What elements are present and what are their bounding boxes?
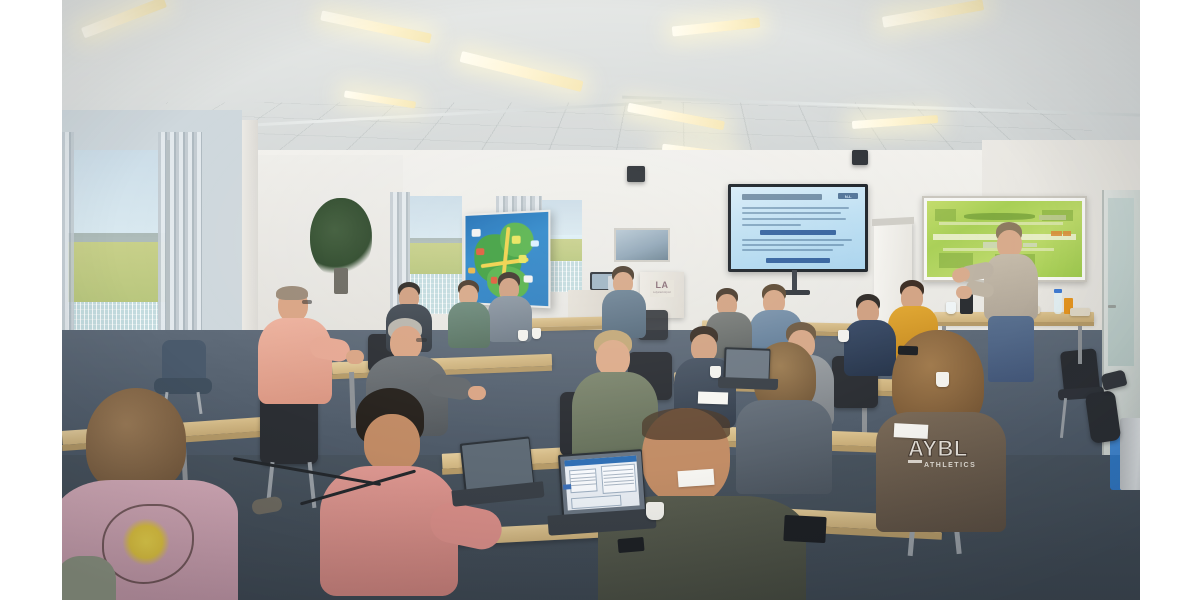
waste-bin[interactable] (1120, 418, 1140, 490)
slide: N-L (731, 187, 865, 269)
laptop-screen (461, 438, 532, 490)
slide-text-line (742, 249, 833, 251)
lounge-chair-seat (154, 378, 212, 394)
slide-text-line (742, 244, 844, 246)
door-glass-panel (1108, 198, 1134, 366)
laptop-foreground[interactable] (558, 449, 646, 517)
hand (468, 386, 486, 400)
hair (86, 388, 186, 492)
top (258, 318, 332, 404)
map-apron (1039, 215, 1067, 220)
lectern-logo-text: LA (650, 280, 674, 291)
paper-sheet[interactable] (698, 391, 728, 404)
map-building (1023, 243, 1037, 248)
map-marker (1051, 231, 1062, 236)
slide-text-line (742, 212, 841, 214)
sky (68, 150, 168, 237)
spreadsheet-selection (563, 484, 571, 489)
presenter-trousers (988, 316, 1034, 382)
poster-icon (469, 268, 476, 274)
drinking-glass[interactable] (710, 366, 721, 378)
lectern-logo: LA Lelystad Airport (650, 280, 674, 297)
drinking-glass[interactable] (532, 328, 541, 339)
paper-sheet[interactable] (894, 423, 929, 439)
display-stand (792, 270, 797, 292)
poster-icon (518, 255, 527, 262)
chair-cushion (62, 556, 116, 600)
hair (642, 408, 730, 440)
letterboxed-photo-frame: N-L (0, 0, 1200, 600)
slide-text-line (742, 239, 852, 241)
hoodie-brand-text: AYBL (908, 438, 968, 460)
bottle-cap (1054, 289, 1062, 293)
laptop-keyboard[interactable] (718, 377, 778, 390)
map-area (964, 213, 1035, 220)
map-parcel (935, 209, 957, 221)
hoodie-brand-rule (908, 460, 922, 463)
head (596, 340, 630, 376)
presenter-hand-right (956, 286, 972, 299)
door-handle[interactable] (1108, 305, 1116, 308)
glasses (416, 338, 427, 342)
ceiling-speaker (852, 150, 868, 165)
snack-plate (1070, 308, 1090, 316)
top (844, 320, 896, 376)
head (390, 326, 422, 360)
slide-highlight-band (760, 230, 835, 235)
drinking-glass[interactable] (518, 330, 528, 341)
plant-pot (334, 268, 348, 294)
slide-text-line (742, 224, 801, 226)
head (364, 414, 420, 472)
coffee-cup[interactable] (936, 372, 949, 387)
drinking-glass[interactable] (838, 330, 849, 342)
hair (276, 286, 308, 300)
top (448, 302, 490, 348)
ceiling-speaker (627, 166, 645, 182)
poster-icon (530, 240, 538, 247)
paper-sheet[interactable] (677, 469, 714, 487)
slide-logo: N-L (838, 193, 858, 200)
laptop-screen (560, 451, 645, 516)
glasses (302, 300, 312, 304)
tablet-on-table[interactable] (783, 515, 826, 543)
poster-icon (512, 235, 521, 243)
poster-icon (490, 277, 497, 284)
grass-field (68, 242, 168, 302)
phone-on-table[interactable] (898, 346, 918, 356)
drinking-glass (946, 302, 956, 314)
laptop-midground[interactable] (723, 347, 770, 381)
sky (410, 196, 462, 241)
coffee-cup[interactable] (646, 502, 664, 520)
slide-text-line (742, 218, 847, 220)
lectern-logo-subtext: Lelystad Airport (650, 291, 674, 295)
laptop-screen (725, 349, 769, 379)
potted-plant (310, 198, 372, 278)
hoodie-brand-subtext: ATHLETICS (924, 462, 976, 470)
top (736, 400, 832, 494)
grass-field (410, 243, 462, 274)
slide-highlight-band (766, 258, 830, 263)
photograph: N-L (62, 0, 1140, 600)
table-leg (1078, 326, 1082, 364)
poster-icon (472, 229, 481, 237)
slide-title-placeholder (742, 194, 822, 200)
hand (346, 350, 364, 364)
map-marker (1063, 231, 1071, 236)
horizon-line (68, 233, 168, 242)
poster-icon (524, 276, 534, 284)
water-bottle (1054, 292, 1062, 314)
presentation-display[interactable]: N-L (728, 184, 868, 272)
phone-on-table[interactable] (617, 537, 644, 553)
slide-text-line (742, 207, 849, 209)
framed-picture (614, 228, 670, 262)
poster-icon (476, 248, 484, 255)
